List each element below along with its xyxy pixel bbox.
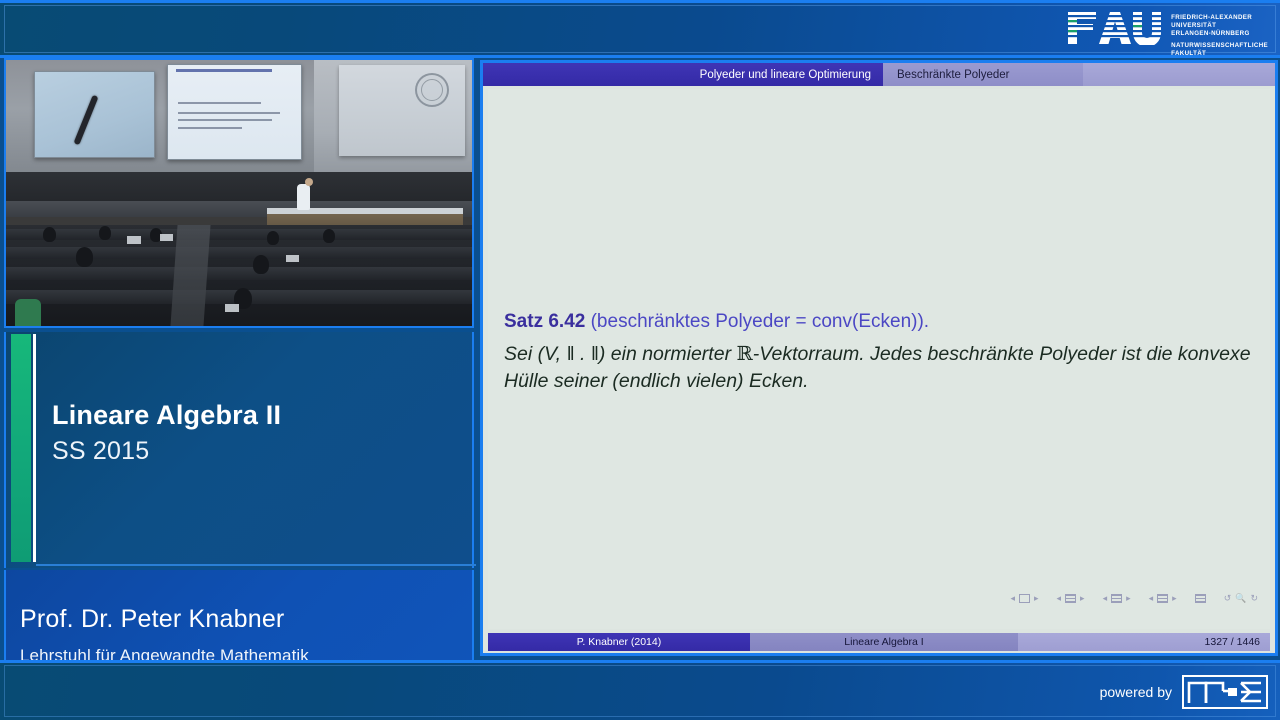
- student: [267, 231, 279, 245]
- tab-polyeder-und-lineare-optimierung[interactable]: Polyeder und lineare Optimierung: [483, 63, 883, 86]
- player-stage: FRIEDRICH-ALEXANDERUNIVERSITÄTERLANGEN-N…: [0, 0, 1280, 720]
- student: [43, 227, 56, 242]
- paper: [286, 255, 299, 262]
- prev-subsection-icon[interactable]: ◂: [1103, 594, 1108, 603]
- course-title: Lineare Algebra II: [52, 400, 281, 431]
- fau-faculty-line: NATURWISSENSCHAFTLICHEFAKULTÄT: [1171, 42, 1268, 58]
- video-frame: [6, 60, 472, 326]
- theorem-number: Satz 6.42: [504, 311, 585, 332]
- theorem-statement-part1: Sei (V, ‖ . ‖) ein normierter: [504, 343, 736, 365]
- next-slide-icon[interactable]: ▸: [1034, 594, 1039, 603]
- seat-row: [6, 229, 472, 240]
- presenter-name: Prof. Dr. Peter Knabner: [20, 605, 284, 634]
- chalkboard-band: [6, 172, 472, 204]
- find-icon[interactable]: 🔍: [1235, 594, 1246, 603]
- title-divider: [36, 564, 476, 566]
- theorem-caption: (beschränktes Polyeder = conv(Ecken)).: [591, 311, 929, 332]
- footer-page-number: 1327 / 1446: [1018, 633, 1270, 651]
- fau-logo: FRIEDRICH-ALEXANDERUNIVERSITÄTERLANGEN-N…: [1066, 11, 1268, 53]
- slide-icon[interactable]: [1019, 594, 1030, 603]
- real-numbers-symbol: ℝ: [736, 342, 752, 365]
- forward-icon[interactable]: ↻: [1250, 594, 1258, 603]
- subsection-icon[interactable]: [1111, 594, 1122, 603]
- student: [99, 226, 111, 240]
- footer-author: P. Knabner (2014): [488, 633, 750, 651]
- page-header: FRIEDRICH-ALEXANDERUNIVERSITÄTERLANGEN-N…: [0, 0, 1280, 58]
- paper: [225, 304, 239, 312]
- course-title-card: Lineare Algebra II SS 2015: [4, 332, 474, 568]
- theorem-statement: Sei (V, ‖ . ‖) ein normierter ℝ-Vektorra…: [504, 341, 1264, 395]
- toc-icon[interactable]: [1195, 594, 1206, 603]
- page-footer: powered by: [0, 660, 1280, 720]
- fau-wordmark-icon: [1066, 11, 1162, 45]
- slide-line: [178, 102, 261, 104]
- student: [253, 255, 269, 274]
- student: [76, 247, 93, 267]
- lecture-hall-video[interactable]: [4, 58, 474, 328]
- slide-line: [178, 119, 271, 121]
- seat-row: [6, 267, 472, 280]
- aisle: [170, 225, 210, 326]
- projection-screen-right: [339, 65, 465, 155]
- slide-body: Satz 6.42 (beschränktes Polyeder = conv(…: [488, 89, 1270, 629]
- frame-icon[interactable]: [1065, 594, 1076, 603]
- green-accent-bar: [11, 334, 31, 562]
- fau-logo-text: FRIEDRICH-ALEXANDERUNIVERSITÄTERLANGEN-N…: [1171, 11, 1268, 58]
- prev-slide-icon[interactable]: ◂: [1010, 594, 1015, 603]
- footer-title: Lineare Algebra I: [750, 633, 1018, 651]
- student-green-shirt: [15, 299, 41, 328]
- student: [323, 229, 335, 243]
- tab-beschraenkte-polyeder[interactable]: Beschränkte Polyeder: [883, 63, 1083, 86]
- slide-line: [178, 112, 279, 114]
- next-subsection-icon[interactable]: ▸: [1126, 594, 1131, 603]
- back-icon[interactable]: ↺: [1224, 594, 1232, 603]
- slide-panel[interactable]: Polyeder und lineare Optimierung Beschrä…: [478, 58, 1280, 660]
- rrze-logo: [1182, 675, 1268, 709]
- lecturer-figure: [297, 184, 310, 210]
- powered-by-label: powered by: [1100, 684, 1172, 700]
- fau-university-line: FRIEDRICH-ALEXANDERUNIVERSITÄTERLANGEN-N…: [1171, 14, 1268, 38]
- university-crest-icon: [415, 73, 449, 107]
- tab-empty[interactable]: [1083, 63, 1275, 86]
- section-icon[interactable]: [1157, 594, 1168, 603]
- prev-frame-icon[interactable]: ◂: [1057, 594, 1062, 603]
- beamer-navigation-symbols[interactable]: ◂ ▸ ◂ ▸ ◂ ▸ ◂ ▸: [1010, 594, 1258, 603]
- course-term: SS 2015: [52, 437, 149, 466]
- next-section-icon[interactable]: ▸: [1172, 594, 1177, 603]
- left-column: Lineare Algebra II SS 2015 Prof. Dr. Pet…: [0, 58, 478, 660]
- slide-tabbar: Polyeder und lineare Optimierung Beschrä…: [483, 63, 1275, 86]
- pen-image: [73, 95, 98, 145]
- paper: [127, 236, 141, 244]
- slide-footer: P. Knabner (2014) Lineare Algebra I 1327…: [488, 633, 1270, 651]
- audience-seating: [6, 225, 472, 326]
- slide-line: [178, 127, 242, 129]
- slide-frame: Polyeder und lineare Optimierung Beschrä…: [480, 60, 1278, 656]
- slide-title-bar: [176, 69, 272, 72]
- next-frame-icon[interactable]: ▸: [1080, 594, 1085, 603]
- theorem-heading: Satz 6.42 (beschränktes Polyeder = conv(…: [504, 311, 929, 333]
- projection-screen-center: [167, 64, 302, 160]
- footer-inner-border: [4, 665, 1276, 717]
- projection-screen-left: [34, 71, 155, 159]
- white-accent-bar: [33, 334, 36, 562]
- prev-section-icon[interactable]: ◂: [1149, 594, 1154, 603]
- paper: [160, 234, 173, 241]
